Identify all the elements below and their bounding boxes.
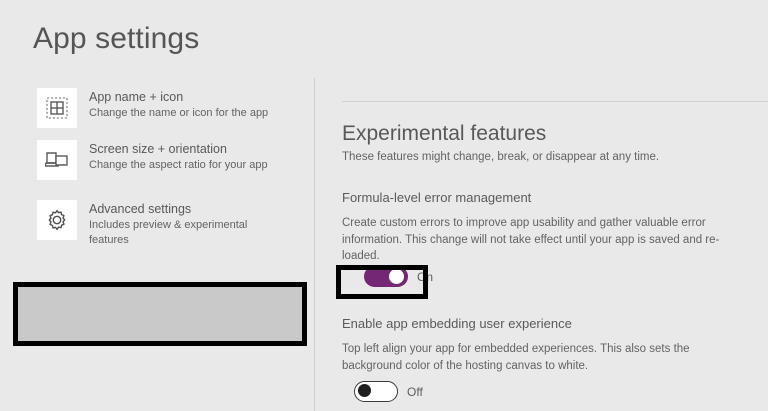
sidebar-item-subtitle: Change the name or icon for the app [89, 106, 268, 121]
annotation-box-advanced-settings [13, 282, 307, 346]
sidebar-item-app-name-icon[interactable]: App name + icon Change the name or icon … [37, 88, 268, 128]
formula-error-toggle-row[interactable]: On [364, 266, 433, 287]
settings-main-panel: Experimental features These features mig… [314, 0, 768, 411]
toggle-knob [358, 384, 371, 397]
feature-description: Top left align your app for embedded exp… [342, 341, 724, 374]
sidebar-item-title: Screen size + orientation [89, 141, 268, 158]
toggle-state-label: On [417, 269, 433, 285]
app-name-icon-tile [37, 88, 77, 128]
app-name-icon-text: App name + icon Change the name or icon … [89, 88, 268, 121]
app-grid-icon [46, 97, 68, 119]
sidebar-item-screen-size-orientation[interactable]: Screen size + orientation Change the asp… [37, 140, 268, 180]
section-title: Experimental features [342, 120, 546, 147]
feature-description: Create custom errors to improve app usab… [342, 215, 724, 265]
screen-size-text: Screen size + orientation Change the asp… [89, 140, 268, 173]
gear-icon [45, 208, 69, 232]
toggle-knob [389, 269, 404, 284]
screen-size-icon-tile [37, 140, 77, 180]
feature-title: Enable app embedding user experience [342, 315, 754, 333]
sidebar-item-title: Advanced settings [89, 201, 274, 218]
app-embedding-toggle-row[interactable]: Off [354, 381, 423, 402]
advanced-settings-icon-tile [37, 200, 77, 240]
advanced-settings-text: Advanced settings Includes preview & exp… [89, 200, 274, 248]
formula-error-toggle[interactable] [364, 266, 408, 287]
feature-enable-app-embedding: Enable app embedding user experience Top… [342, 315, 754, 374]
feature-title: Formula-level error management [342, 189, 754, 207]
app-embedding-toggle[interactable] [354, 381, 398, 402]
sidebar-item-subtitle: Includes preview & experimental features [89, 218, 274, 248]
app-settings-screen: App settings App name + icon Change [0, 0, 768, 411]
sidebar-item-title: App name + icon [89, 89, 268, 106]
feature-formula-level-error-management: Formula-level error management Create cu… [342, 189, 754, 265]
toggle-state-label: Off [407, 384, 423, 400]
page-title: App settings [33, 20, 199, 58]
screen-devices-icon [45, 150, 69, 170]
sidebar-item-advanced-settings[interactable]: Advanced settings Includes preview & exp… [37, 200, 274, 248]
section-subtitle: These features might change, break, or d… [342, 149, 659, 165]
sidebar-item-subtitle: Change the aspect ratio for your app [89, 158, 268, 173]
settings-sidebar: App name + icon Change the name or icon … [0, 82, 314, 411]
section-divider [342, 101, 768, 102]
